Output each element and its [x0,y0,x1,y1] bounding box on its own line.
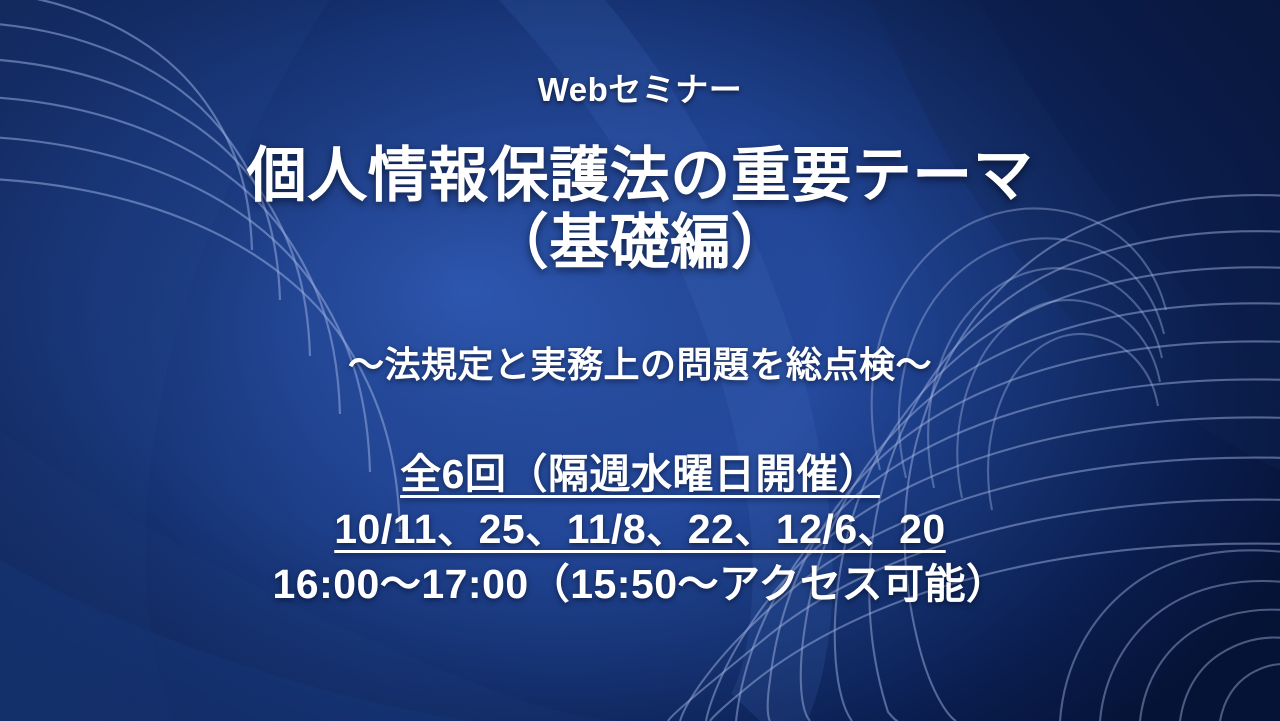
title-line-2: （基礎編） [247,209,1034,276]
title-line-1: 個人情報保護法の重要テーマ [247,142,1034,209]
eyebrow-label: Webセミナー [538,72,743,108]
page-title: 個人情報保護法の重要テーマ （基礎編） [247,142,1034,276]
schedule-time: 16:00〜17:00（15:50〜アクセス可能） [272,562,1007,608]
schedule-sessions: 全6回（隔週水曜日開催） [400,452,880,498]
slide-content: Webセミナー 個人情報保護法の重要テーマ （基礎編） 〜法規定と実務上の問題を… [0,0,1280,721]
subtitle: 〜法規定と実務上の問題を総点検〜 [348,343,932,386]
schedule-block: 全6回（隔週水曜日開催） 10/11、25、11/8、22、12/6、20 16… [272,452,1007,608]
seminar-title-slide: Webセミナー 個人情報保護法の重要テーマ （基礎編） 〜法規定と実務上の問題を… [0,0,1280,721]
schedule-dates: 10/11、25、11/8、22、12/6、20 [334,507,945,553]
